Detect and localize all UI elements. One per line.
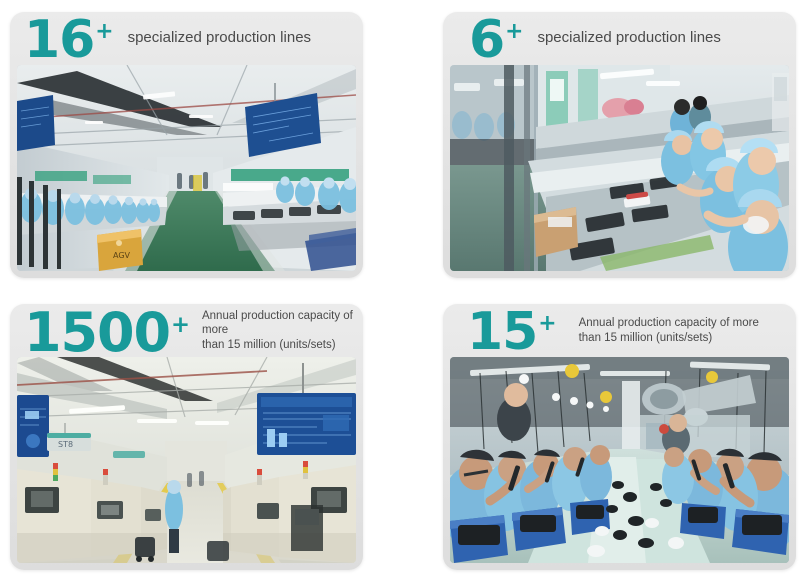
stat-card-header: 6+ specialized production lines <box>443 12 796 65</box>
stat-caption: Annual production capacity of more than … <box>202 309 363 352</box>
stat-caption-line-1: specialized production lines <box>128 29 311 48</box>
stat-caption-line-1: Annual production capacity of more <box>579 316 759 330</box>
photo-illustration: AGV <box>17 65 356 271</box>
stat-number: 16+ <box>24 19 114 63</box>
stat-card-photo-smt-machine-line: ST8 <box>17 357 356 563</box>
stat-number: 1500+ <box>24 310 190 355</box>
stat-plus-sign: + <box>95 19 113 44</box>
photo-illustration: ST8 <box>17 357 356 563</box>
stat-caption: specialized production lines <box>128 29 311 48</box>
stat-card-annual-production-capacity-1500[interactable]: 1500+ Annual production capacity of more… <box>10 304 363 570</box>
stat-number-value: 1500 <box>24 304 170 364</box>
stat-card-photo-soldering-workbenches <box>450 357 789 563</box>
stat-caption-line-2: than 15 million (units/sets) <box>579 331 759 345</box>
stat-number-value: 16 <box>24 12 94 70</box>
stats-card-grid: 16+ specialized production lines <box>0 0 810 586</box>
stat-plus-sign: + <box>538 311 556 336</box>
stat-card-specialized-production-lines-6[interactable]: 6+ specialized production lines <box>443 12 796 278</box>
svg-text:AGV: AGV <box>113 251 131 260</box>
svg-text:ST8: ST8 <box>58 440 73 449</box>
stat-caption: specialized production lines <box>537 29 720 48</box>
stat-card-photo-production-line-aisle: AGV <box>17 65 356 271</box>
stat-number: 6+ <box>469 19 523 63</box>
stat-card-header: 16+ specialized production lines <box>10 12 363 65</box>
stat-number: 15+ <box>467 311 557 355</box>
stat-caption-line-2: than 15 million (units/sets) <box>202 338 363 352</box>
stat-plus-sign: + <box>505 19 523 44</box>
stat-card-header: 1500+ Annual production capacity of more… <box>10 304 363 357</box>
stat-card-specialized-production-lines-16[interactable]: 16+ specialized production lines <box>10 12 363 278</box>
stat-caption-line-1: Annual production capacity of more <box>202 309 363 338</box>
stat-caption: Annual production capacity of more than … <box>579 316 759 345</box>
stat-plus-sign: + <box>171 312 190 338</box>
stat-card-photo-assembly-line-workers <box>450 65 789 271</box>
photo-illustration <box>450 357 789 563</box>
stat-caption-line-1: specialized production lines <box>537 29 720 48</box>
stat-card-header: 15+ Annual production capacity of more t… <box>443 304 796 357</box>
stat-number-value: 6 <box>469 12 504 70</box>
stat-number-value: 15 <box>467 304 537 362</box>
stat-card-annual-production-capacity-15[interactable]: 15+ Annual production capacity of more t… <box>443 304 796 570</box>
photo-illustration <box>450 65 789 271</box>
